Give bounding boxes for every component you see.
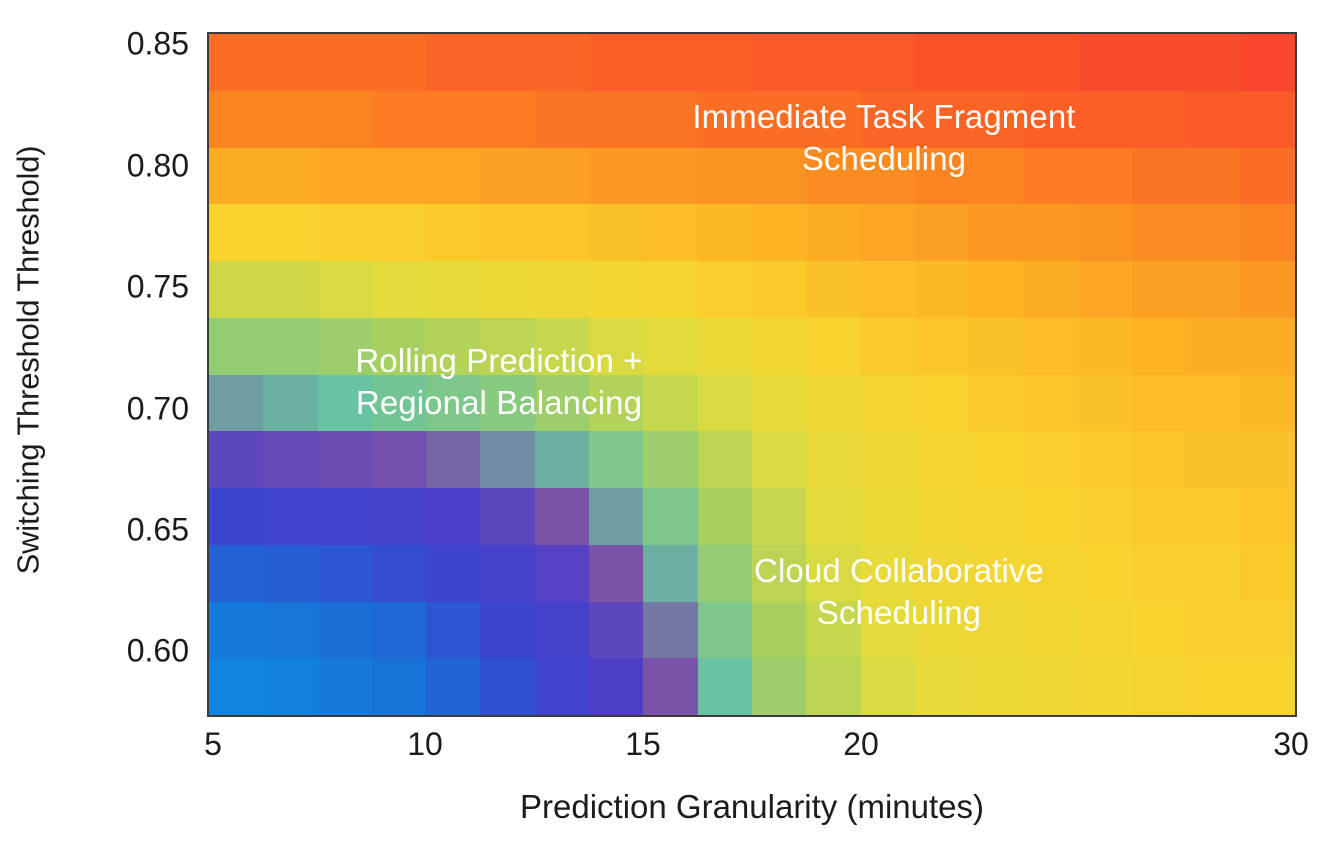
heatmap-cell xyxy=(861,318,915,375)
heatmap-cell xyxy=(1023,148,1077,205)
heatmap-cell xyxy=(535,204,589,261)
heatmap-cell xyxy=(698,148,752,205)
heatmap-cell xyxy=(806,602,860,659)
heatmap-cell xyxy=(480,488,534,545)
heatmap-cell xyxy=(698,261,752,318)
heatmap-cell xyxy=(426,148,480,205)
y-axis-title-text: Switching Threshold Threshold) xyxy=(10,146,46,575)
heatmap-cell xyxy=(426,91,480,148)
heatmap-cell xyxy=(915,261,969,318)
heatmap-cell xyxy=(1241,34,1295,91)
heatmap-cell xyxy=(1078,148,1132,205)
x-axis-tick-label: 5 xyxy=(204,726,222,763)
heatmap-cell xyxy=(589,431,643,488)
heatmap-cell xyxy=(372,318,426,375)
heatmap-cell xyxy=(698,34,752,91)
heatmap-cell xyxy=(372,261,426,318)
heatmap-cell xyxy=(426,318,480,375)
heatmap-cell xyxy=(426,204,480,261)
heatmap-cell xyxy=(209,375,263,432)
heatmap-cell xyxy=(861,261,915,318)
heatmap-cell xyxy=(806,658,860,715)
heatmap-cell xyxy=(1241,261,1295,318)
heatmap-cell xyxy=(969,545,1023,602)
y-axis-tick-label: 0.65 xyxy=(127,511,189,548)
heatmap-cell xyxy=(372,431,426,488)
heatmap-cell xyxy=(698,318,752,375)
heatmap-cell xyxy=(861,602,915,659)
heatmap-cell xyxy=(1186,91,1240,148)
heatmap-cell xyxy=(806,375,860,432)
heatmap-cell xyxy=(1241,545,1295,602)
heatmap-cell xyxy=(969,488,1023,545)
heatmap-cell xyxy=(263,318,317,375)
heatmap-cell xyxy=(535,658,589,715)
heatmap-cell xyxy=(969,91,1023,148)
heatmap-cell xyxy=(263,602,317,659)
heatmap-cell xyxy=(480,91,534,148)
heatmap-cell xyxy=(698,375,752,432)
heatmap-cell xyxy=(535,318,589,375)
heatmap-cell xyxy=(861,375,915,432)
heatmap-cell xyxy=(480,602,534,659)
heatmap-cell xyxy=(861,488,915,545)
heatmap-cell xyxy=(861,34,915,91)
heatmap-cell xyxy=(643,91,697,148)
heatmap-cell xyxy=(263,375,317,432)
y-axis-tick-label: 0.60 xyxy=(127,633,189,670)
heatmap-cell xyxy=(263,204,317,261)
heatmap-cell xyxy=(643,545,697,602)
heatmap-cell xyxy=(1023,34,1077,91)
heatmap-cell xyxy=(698,658,752,715)
heatmap-cell xyxy=(1023,488,1077,545)
heatmap-cell xyxy=(643,431,697,488)
heatmap-cell xyxy=(698,91,752,148)
heatmap-cell xyxy=(915,34,969,91)
heatmap-cell xyxy=(969,602,1023,659)
heatmap-cell xyxy=(318,488,372,545)
heatmap-cell xyxy=(969,318,1023,375)
heatmap-cell xyxy=(1132,261,1186,318)
heatmap-cell xyxy=(263,431,317,488)
heatmap-cell xyxy=(752,488,806,545)
heatmap-cell xyxy=(969,34,1023,91)
heatmap-cell xyxy=(1241,318,1295,375)
heatmap-cell xyxy=(752,431,806,488)
heatmap-cell xyxy=(263,488,317,545)
heatmap-cell xyxy=(209,545,263,602)
heatmap-cell xyxy=(915,488,969,545)
heatmap-cell xyxy=(372,34,426,91)
heatmap-cell xyxy=(1241,91,1295,148)
heatmap-cell xyxy=(372,658,426,715)
heatmap-cell xyxy=(752,34,806,91)
heatmap-cell xyxy=(1078,34,1132,91)
x-axis-tick-labels: 510152030 xyxy=(207,726,1297,776)
heatmap-cell xyxy=(1078,318,1132,375)
heatmap-cell xyxy=(318,261,372,318)
heatmap-cell xyxy=(1078,204,1132,261)
heatmap-cell xyxy=(263,91,317,148)
x-axis-tick-label: 10 xyxy=(407,726,443,763)
x-axis-title: Prediction Granularity (minutes) xyxy=(207,788,1297,826)
heatmap-cell xyxy=(806,34,860,91)
heatmap-cell xyxy=(915,658,969,715)
heatmap-cell xyxy=(426,658,480,715)
heatmap-cell xyxy=(209,91,263,148)
heatmap-cell xyxy=(643,204,697,261)
y-axis-tick-label: 0.85 xyxy=(127,26,189,63)
heatmap-cell xyxy=(372,375,426,432)
heatmap-cell xyxy=(752,91,806,148)
heatmap-cell xyxy=(643,658,697,715)
heatmap-cell xyxy=(480,658,534,715)
heatmap-cell xyxy=(1186,148,1240,205)
heatmap-figure: Switching Threshold Threshold) 0.850.800… xyxy=(0,0,1325,867)
heatmap-cell xyxy=(969,431,1023,488)
heatmap-cell xyxy=(1023,261,1077,318)
heatmap-cell xyxy=(372,148,426,205)
heatmap-cell xyxy=(318,375,372,432)
heatmap-cell xyxy=(1132,658,1186,715)
heatmap-cell xyxy=(426,602,480,659)
heatmap-cell xyxy=(1132,602,1186,659)
heatmap-cell xyxy=(698,204,752,261)
heatmap-cell xyxy=(1241,431,1295,488)
heatmap-cell xyxy=(589,545,643,602)
heatmap-cell xyxy=(643,34,697,91)
x-axis-tick-label: 15 xyxy=(625,726,661,763)
heatmap-cell xyxy=(1023,602,1077,659)
heatmap-cell xyxy=(861,91,915,148)
heatmap-cell xyxy=(372,602,426,659)
heatmap-cell xyxy=(480,545,534,602)
x-axis-tick-label: 30 xyxy=(1273,726,1309,763)
heatmap-cell xyxy=(209,148,263,205)
heatmap-cell xyxy=(969,261,1023,318)
heatmap-cell xyxy=(480,431,534,488)
heatmap-cell xyxy=(480,261,534,318)
heatmap-cell xyxy=(1132,431,1186,488)
heatmap-cell xyxy=(480,148,534,205)
heatmap-cell xyxy=(752,318,806,375)
heatmap-cell xyxy=(861,658,915,715)
heatmap-cell xyxy=(480,318,534,375)
heatmap-cell xyxy=(806,488,860,545)
heatmap-cell xyxy=(589,91,643,148)
heatmap-cell xyxy=(915,602,969,659)
heatmap-cell xyxy=(806,261,860,318)
heatmap-cell xyxy=(915,431,969,488)
heatmap-cell xyxy=(1241,148,1295,205)
heatmap-cell xyxy=(752,375,806,432)
heatmap-cell xyxy=(263,34,317,91)
heatmap-cell xyxy=(1078,545,1132,602)
heatmap-cell xyxy=(589,658,643,715)
heatmap-cell xyxy=(1078,261,1132,318)
heatmap-cell xyxy=(1241,602,1295,659)
heatmap-cell xyxy=(426,545,480,602)
heatmap-cell xyxy=(1023,431,1077,488)
heatmap-cell xyxy=(752,261,806,318)
heatmap-cell xyxy=(209,602,263,659)
heatmap-cell xyxy=(643,318,697,375)
heatmap-cell xyxy=(643,488,697,545)
heatmap-cell xyxy=(480,34,534,91)
heatmap-cell xyxy=(372,91,426,148)
heatmap-cell xyxy=(1186,602,1240,659)
heatmap-cell xyxy=(589,488,643,545)
heatmap-cell xyxy=(806,318,860,375)
heatmap-cell xyxy=(589,318,643,375)
heatmap-cell xyxy=(1023,658,1077,715)
heatmap-cell xyxy=(1132,318,1186,375)
heatmap-cell xyxy=(535,148,589,205)
heatmap-cell xyxy=(1186,261,1240,318)
heatmap-cell xyxy=(263,658,317,715)
heatmap-cell xyxy=(426,34,480,91)
heatmap-cell xyxy=(915,91,969,148)
heatmap-cell xyxy=(1186,34,1240,91)
heatmap-cell xyxy=(752,148,806,205)
x-axis-tick-label: 20 xyxy=(843,726,879,763)
heatmap-cell xyxy=(318,91,372,148)
heatmap-cell xyxy=(1241,204,1295,261)
heatmap-cell xyxy=(209,318,263,375)
heatmap-cell xyxy=(969,658,1023,715)
heatmap-cell xyxy=(318,34,372,91)
heatmap-cell xyxy=(535,602,589,659)
heatmap-cell xyxy=(806,431,860,488)
heatmap-cell xyxy=(1132,91,1186,148)
y-axis-tick-label: 0.80 xyxy=(127,147,189,184)
heatmap-cell xyxy=(1023,375,1077,432)
heatmap-cell xyxy=(1023,204,1077,261)
heatmap-cell xyxy=(209,488,263,545)
y-axis-title: Switching Threshold Threshold) xyxy=(0,0,56,720)
heatmap-cell xyxy=(698,545,752,602)
heatmap-cell xyxy=(426,261,480,318)
heatmap-cell xyxy=(372,204,426,261)
y-axis-tick-label: 0.75 xyxy=(127,269,189,306)
heatmap-cell xyxy=(318,545,372,602)
heatmap-cell xyxy=(1023,545,1077,602)
heatmap-cell xyxy=(318,431,372,488)
heatmap-cell xyxy=(1132,545,1186,602)
heatmap-cell xyxy=(1186,204,1240,261)
heatmap-cell xyxy=(643,148,697,205)
heatmap-cell xyxy=(263,148,317,205)
heatmap-cell xyxy=(209,34,263,91)
heatmap-cell xyxy=(861,148,915,205)
y-axis-tick-label: 0.70 xyxy=(127,390,189,427)
heatmap-cell xyxy=(426,431,480,488)
heatmap-grid xyxy=(209,34,1295,715)
heatmap-cell xyxy=(209,204,263,261)
heatmap-cell xyxy=(318,148,372,205)
heatmap-cell xyxy=(1132,375,1186,432)
heatmap-cell xyxy=(535,545,589,602)
heatmap-cell xyxy=(1186,431,1240,488)
heatmap-cell xyxy=(589,602,643,659)
heatmap-cell xyxy=(535,34,589,91)
heatmap-cell xyxy=(698,488,752,545)
heatmap-cell xyxy=(752,658,806,715)
heatmap-cell xyxy=(1078,658,1132,715)
heatmap-cell xyxy=(643,375,697,432)
heatmap-cell xyxy=(915,204,969,261)
heatmap-cell xyxy=(1132,34,1186,91)
heatmap-cell xyxy=(1023,318,1077,375)
heatmap-cell xyxy=(806,204,860,261)
heatmap-cell xyxy=(1186,545,1240,602)
heatmap-cell xyxy=(318,602,372,659)
heatmap-cell xyxy=(806,545,860,602)
heatmap-cell xyxy=(698,431,752,488)
heatmap-cell xyxy=(969,148,1023,205)
heatmap-cell xyxy=(589,204,643,261)
heatmap-cell xyxy=(915,545,969,602)
heatmap-cell xyxy=(1078,431,1132,488)
heatmap-cell xyxy=(643,602,697,659)
heatmap-cell xyxy=(372,488,426,545)
heatmap-cell xyxy=(426,488,480,545)
heatmap-cell xyxy=(861,204,915,261)
heatmap-cell xyxy=(1078,602,1132,659)
heatmap-cell xyxy=(589,261,643,318)
heatmap-cell xyxy=(263,545,317,602)
heatmap-cell xyxy=(372,545,426,602)
y-axis-tick-labels: 0.850.800.750.700.650.60 xyxy=(56,0,201,760)
heatmap-cell xyxy=(209,431,263,488)
heatmap-cell xyxy=(969,375,1023,432)
heatmap-cell xyxy=(752,204,806,261)
heatmap-cell xyxy=(209,261,263,318)
heatmap-cell xyxy=(1023,91,1077,148)
heatmap-cell xyxy=(969,204,1023,261)
heatmap-cell xyxy=(589,34,643,91)
heatmap-cell xyxy=(806,148,860,205)
heatmap-cell xyxy=(752,602,806,659)
heatmap-cell xyxy=(1132,148,1186,205)
heatmap-cell xyxy=(1186,488,1240,545)
heatmap-cell xyxy=(1241,658,1295,715)
heatmap-cell xyxy=(1186,318,1240,375)
heatmap-cell xyxy=(806,91,860,148)
heatmap-cell xyxy=(480,375,534,432)
heatmap-cell xyxy=(318,658,372,715)
heatmap-cell xyxy=(1241,375,1295,432)
heatmap-cell xyxy=(1132,488,1186,545)
heatmap-plot-area: Immediate Task Fragment Scheduling Rolli… xyxy=(207,32,1297,717)
heatmap-cell xyxy=(1078,375,1132,432)
heatmap-cell xyxy=(480,204,534,261)
heatmap-cell xyxy=(643,261,697,318)
heatmap-cell xyxy=(752,545,806,602)
heatmap-cell xyxy=(915,375,969,432)
heatmap-cell xyxy=(318,204,372,261)
heatmap-cell xyxy=(915,318,969,375)
heatmap-cell xyxy=(861,545,915,602)
heatmap-cell xyxy=(915,148,969,205)
heatmap-cell xyxy=(589,148,643,205)
heatmap-cell xyxy=(535,91,589,148)
heatmap-cell xyxy=(535,261,589,318)
heatmap-cell xyxy=(426,375,480,432)
heatmap-cell xyxy=(861,431,915,488)
heatmap-cell xyxy=(589,375,643,432)
heatmap-cell xyxy=(1186,375,1240,432)
heatmap-cell xyxy=(535,488,589,545)
heatmap-cell xyxy=(1132,204,1186,261)
heatmap-cell xyxy=(1241,488,1295,545)
heatmap-cell xyxy=(535,431,589,488)
heatmap-cell xyxy=(1078,488,1132,545)
heatmap-cell xyxy=(1186,658,1240,715)
heatmap-cell xyxy=(318,318,372,375)
heatmap-cell xyxy=(209,658,263,715)
heatmap-cell xyxy=(535,375,589,432)
heatmap-cell xyxy=(1078,91,1132,148)
heatmap-cell xyxy=(263,261,317,318)
heatmap-cell xyxy=(698,602,752,659)
